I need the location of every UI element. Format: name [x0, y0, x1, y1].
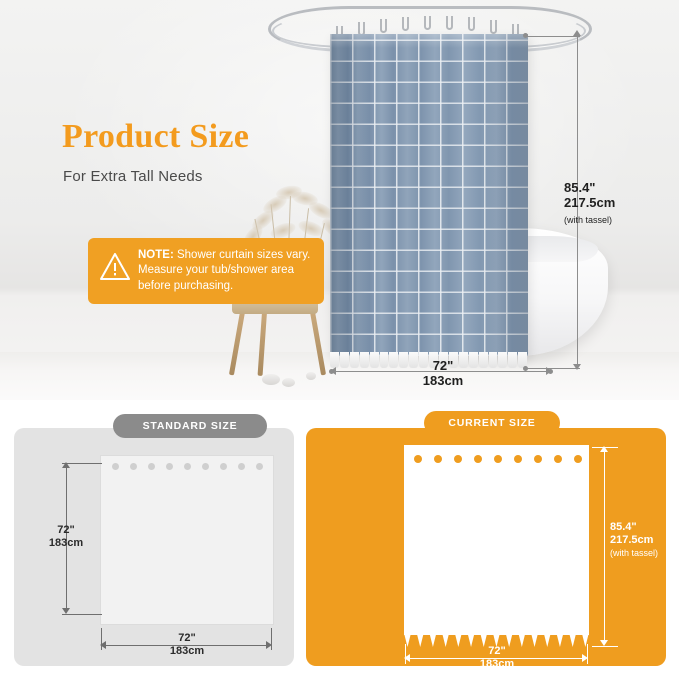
standard-curtain-diagram	[100, 455, 274, 625]
standard-height-label: 72" 183cm	[40, 524, 92, 550]
photo-height-inches: 85.4"	[564, 180, 595, 195]
standard-curtain-grommet	[130, 463, 137, 470]
note-banner: NOTE: Shower curtain sizes vary. Measure…	[88, 238, 324, 304]
standard-height-tick-bottom	[62, 614, 102, 615]
page-subtitle: For Extra Tall Needs	[63, 168, 203, 185]
standard-height-inches: 72"	[57, 524, 74, 536]
current-curtain-grommet	[474, 455, 482, 463]
current-width-tick-right	[587, 644, 588, 664]
current-curtain-grommet	[494, 455, 502, 463]
shower-curtain	[330, 34, 528, 356]
current-width-inches: 72"	[488, 645, 505, 657]
current-curtain-grommet	[554, 455, 562, 463]
current-width-label: 72" 183cm	[470, 645, 524, 671]
curtain-hook	[446, 16, 453, 30]
current-curtain-grommet	[414, 455, 422, 463]
standard-height-metric: 183cm	[49, 537, 83, 549]
photo-height-tick-top	[524, 36, 580, 37]
current-height-tick-top	[592, 447, 618, 448]
photo-width-dot-right	[548, 369, 553, 374]
standard-width-label: 72" 183cm	[160, 632, 214, 658]
current-height-tick-bottom	[592, 646, 618, 647]
standard-curtain-grommet	[220, 463, 227, 470]
warning-triangle-icon	[100, 253, 130, 280]
standard-width-tick-right	[271, 628, 272, 650]
photo-height-dot-top	[523, 33, 528, 38]
decor-stone	[262, 374, 280, 385]
standard-curtain-grommet	[184, 463, 191, 470]
current-curtain-grommet	[454, 455, 462, 463]
photo-width-label: 72" 183cm	[398, 358, 488, 389]
standard-size-tag: STANDARD SIZE	[113, 414, 267, 438]
curtain-shadow-left	[330, 34, 370, 356]
standard-curtain-grommet	[256, 463, 263, 470]
standard-height-tick-top	[62, 463, 102, 464]
photo-height-label: 85.4" 217.5cm (with tassel)	[564, 180, 615, 226]
standard-width-metric: 183cm	[170, 645, 204, 657]
current-height-dimension-line	[604, 452, 605, 642]
current-curtain-diagram	[404, 445, 589, 635]
current-curtain-grommet	[514, 455, 522, 463]
standard-curtain-grommet	[112, 463, 119, 470]
product-size-infographic: 85.4" 217.5cm (with tassel) 72" 183cm Pr…	[0, 0, 679, 679]
current-height-inches: 85.4"	[610, 521, 637, 533]
current-height-label: 85.4" 217.5cm (with tassel)	[610, 521, 658, 561]
note-label: NOTE:	[138, 249, 174, 261]
photo-height-qualifier: (with tassel)	[564, 215, 612, 225]
photo-width-dot-left	[329, 369, 334, 374]
photo-height-metric: 217.5cm	[564, 195, 615, 210]
curtain-shadow-right	[482, 34, 528, 356]
standard-curtain-grommet	[238, 463, 245, 470]
current-height-metric: 217.5cm	[610, 534, 653, 546]
current-curtain-grommet	[574, 455, 582, 463]
page-title: Product Size	[62, 118, 249, 156]
current-height-qualifier: (with tassel)	[610, 548, 658, 558]
decor-stone	[282, 378, 295, 387]
standard-curtain-grommet	[202, 463, 209, 470]
decor-stone	[306, 372, 316, 380]
current-width-tick-left	[405, 644, 406, 664]
current-width-metric: 183cm	[480, 658, 514, 670]
photo-width-inches: 72"	[433, 358, 454, 373]
curtain-hook	[380, 19, 387, 33]
standard-curtain-grommet	[148, 463, 155, 470]
curtain-hook	[424, 16, 431, 30]
lifestyle-photo: 85.4" 217.5cm (with tassel) 72" 183cm	[0, 0, 679, 400]
standard-curtain-grommet	[166, 463, 173, 470]
curtain-hook	[490, 20, 497, 34]
photo-width-metric: 183cm	[423, 373, 463, 388]
current-curtain-grommet	[434, 455, 442, 463]
photo-height-arrow-down	[573, 364, 581, 370]
current-size-tag: CURRENT SIZE	[424, 411, 560, 435]
curtain-hook	[402, 17, 409, 31]
standard-width-tick-left	[101, 628, 102, 650]
curtain-hook	[468, 17, 475, 31]
standard-width-inches: 72"	[178, 632, 195, 644]
current-curtain-grommet	[534, 455, 542, 463]
curtain-highlight-top	[330, 34, 528, 48]
